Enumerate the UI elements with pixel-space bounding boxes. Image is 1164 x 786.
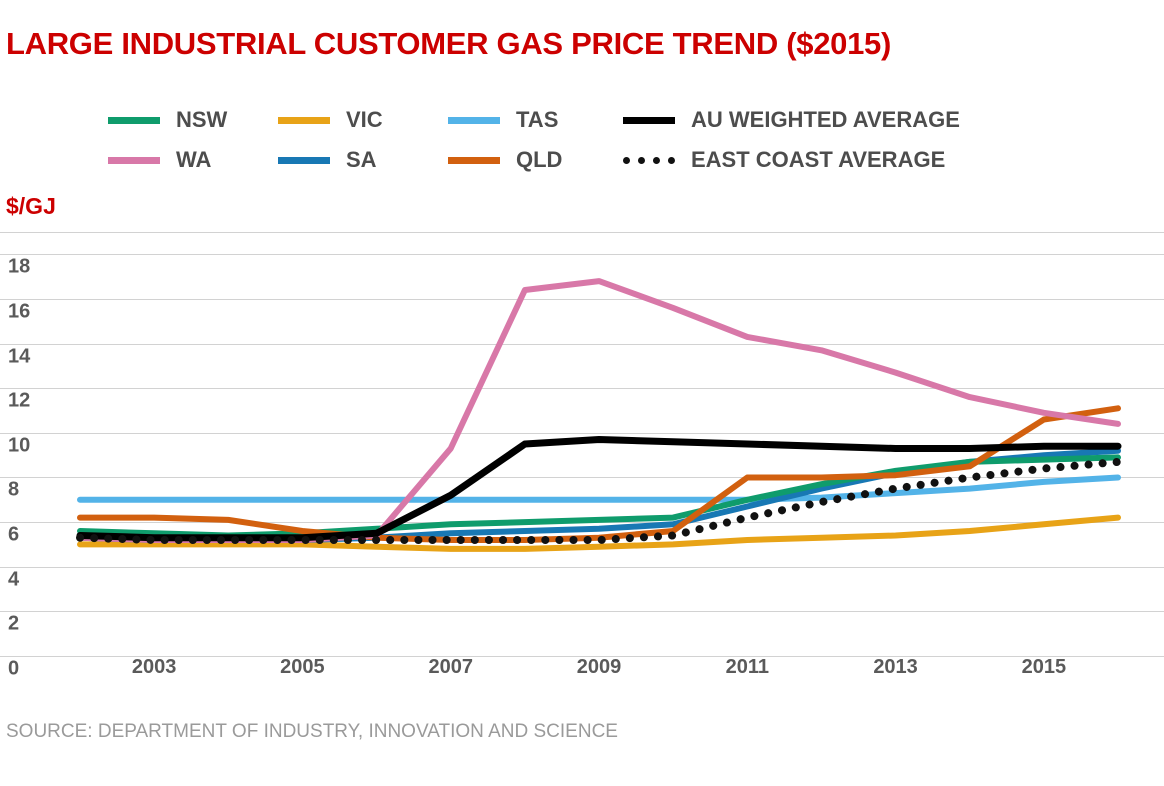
x-axis-tick-label: 2011 — [726, 656, 769, 679]
plot-area: 024681012141618 — [0, 232, 1164, 656]
x-axis-tick-label: 2013 — [873, 656, 918, 679]
legend-swatch-east-coast-average — [623, 157, 675, 164]
legend-item-au-weighted-average: AU WEIGHTED AVERAGE — [623, 100, 960, 140]
legend-swatch-au-weighted-average — [623, 117, 675, 124]
source-note: SOURCE: DEPARTMENT OF INDUSTRY, INNOVATI… — [6, 721, 618, 743]
legend-item-vic: VIC — [278, 100, 448, 140]
x-axis-tick-label: 2005 — [280, 656, 325, 679]
legend-label-wa: WA — [176, 147, 211, 173]
x-axis-tick-label: 2015 — [1022, 656, 1067, 679]
legend-label-east-coast-average: EAST COAST AVERAGE — [691, 147, 945, 173]
legend-label-vic: VIC — [346, 107, 383, 133]
legend-item-nsw: NSW — [108, 100, 278, 140]
legend-item-sa: SA — [278, 140, 448, 180]
legend-label-tas: TAS — [516, 107, 558, 133]
legend-item-wa: WA — [108, 140, 278, 180]
legend-row: WA SA QLD EAST COAST AVERAGE — [108, 140, 1068, 180]
legend-label-sa: SA — [346, 147, 377, 173]
legend-item-east-coast-average: EAST COAST AVERAGE — [623, 140, 945, 180]
series-lines — [0, 232, 1164, 656]
legend-row: NSW VIC TAS AU WEIGHTED AVERAGE — [108, 100, 1068, 140]
legend-swatch-wa — [108, 157, 160, 164]
legend-swatch-vic — [278, 117, 330, 124]
legend-swatch-nsw — [108, 117, 160, 124]
x-axis-tick-label: 2007 — [428, 656, 473, 679]
legend-swatch-tas — [448, 117, 500, 124]
x-axis-labels: 2003200520072009201120132015 — [0, 656, 1164, 696]
legend-label-qld: QLD — [516, 147, 562, 173]
x-axis-tick-label: 2003 — [132, 656, 177, 679]
legend-swatch-qld — [448, 157, 500, 164]
page-title: LARGE INDUSTRIAL CUSTOMER GAS PRICE TREN… — [6, 26, 891, 62]
legend-swatch-sa — [278, 157, 330, 164]
legend-label-au-weighted-average: AU WEIGHTED AVERAGE — [691, 107, 960, 133]
legend-item-qld: QLD — [448, 140, 623, 180]
legend-item-tas: TAS — [448, 100, 623, 140]
legend-label-nsw: NSW — [176, 107, 227, 133]
x-axis-tick-label: 2009 — [577, 656, 622, 679]
chart-legend: NSW VIC TAS AU WEIGHTED AVERAGE WA SA QL… — [108, 100, 1068, 180]
y-axis-unit-label: $/GJ — [6, 193, 56, 220]
